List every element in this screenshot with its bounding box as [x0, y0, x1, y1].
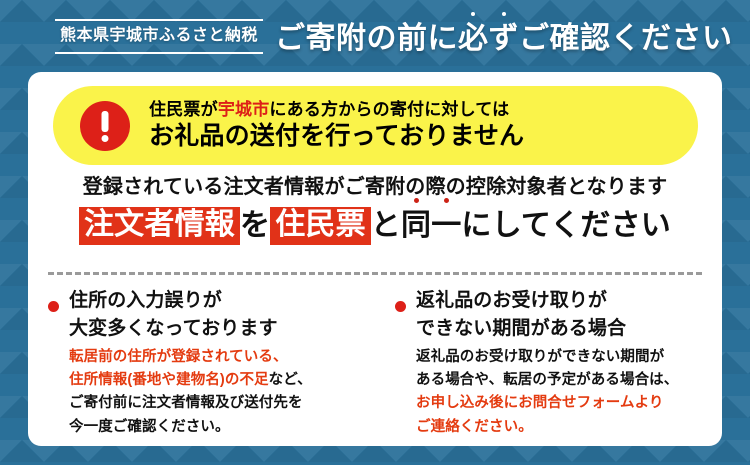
column-subtext-line4: ご連絡ください。 — [416, 416, 722, 439]
subtext-red: お申し込み後にお問合せフォームより — [416, 395, 663, 411]
column-subtext-line3: ご寄付前に注文者情報及び送付先を — [69, 392, 375, 415]
column-subtext-line4: 今一度ご確認ください。 — [69, 416, 375, 439]
notice-line1-post: にある方からの寄付に対しては — [269, 100, 509, 119]
subtext-black: など、 — [269, 372, 312, 388]
brand-label: 熊本県宇城市ふるさと納税 — [55, 21, 263, 52]
column-body: 住所の入力誤りが 大変多くなっております 転居前の住所が登録されている、 住所情… — [69, 287, 375, 439]
column-subtext-line3: お申し込み後にお問合せフォームより — [416, 392, 722, 415]
subtext-red: 転居前の住所が登録されている、 — [69, 349, 288, 365]
column-subtext: 転居前の住所が登録されている、 住所情報(番地や建物名)の不足など、 ご寄付前に… — [69, 346, 375, 439]
subtext-black: 今一度ご確認ください。 — [69, 419, 230, 435]
statement-line2: 注文者情報を住民票と同一にしてください — [28, 207, 722, 245]
column-body: 返礼品のお受け取りが できない期間がある場合 返礼品のお受け取りができない期間が… — [416, 287, 722, 439]
statement-connector: を — [240, 207, 270, 245]
column-subtext: 返礼品のお受け取りができない期間が ある場合や、転居の予定がある場合は、 お申し… — [416, 346, 722, 439]
subtext-black: ご寄付前に注文者情報及び送付先を — [69, 395, 303, 411]
statement-tail-post: にしてください — [461, 207, 671, 245]
column-subtext-line2: ある場合や、転居の予定がある場合は、 — [416, 369, 722, 392]
column-heading: 住所の入力誤りが 大変多くなっております — [69, 287, 375, 342]
statement-emphasis: 同一 — [401, 207, 461, 245]
page-title-part1: ご寄附の前に — [275, 22, 458, 55]
page-title: ご寄附の前に必ずご確認ください — [275, 24, 733, 54]
content-card: 住民票が宇城市にある方からの寄付に対しては お礼品の送付を行っておりません 登録… — [28, 72, 722, 446]
statement-highlight-box-2: 住民票 — [270, 207, 371, 245]
dashed-divider — [48, 272, 702, 275]
subtext-red: 住所情報(番地や建物名)の不足 — [69, 372, 269, 388]
page-title-emphasis-text: 必ず — [458, 22, 519, 55]
notice-line2: お礼品の送付を行っておりません — [149, 121, 524, 151]
statement-emphasis-text: 同一 — [401, 209, 461, 242]
subtext-black: 返礼品のお受け取りができない期間が — [416, 349, 664, 365]
emphasis-dots-white — [458, 12, 519, 16]
notice-texts: 住民票が宇城市にある方からの寄付に対しては お礼品の送付を行っておりません — [149, 100, 524, 151]
subtext-red: ご連絡ください。 — [416, 419, 533, 435]
column-delivery-period: 返礼品のお受け取りが できない期間がある場合 返礼品のお受け取りができない期間が… — [375, 287, 722, 439]
column-heading-line1: 住所の入力誤りが — [69, 287, 375, 315]
column-subtext-line1: 転居前の住所が登録されている、 — [69, 346, 375, 369]
bullet-icon — [395, 301, 406, 312]
columns-row: 住所の入力誤りが 大変多くなっております 転居前の住所が登録されている、 住所情… — [28, 287, 722, 439]
column-heading: 返礼品のお受け取りが できない期間がある場合 — [416, 287, 722, 342]
brand-block: 熊本県宇城市ふるさと納税 — [55, 19, 263, 54]
column-heading-line1: 返礼品のお受け取りが — [416, 287, 722, 315]
banner-header: 熊本県宇城市ふるさと納税 ご寄附の前に必ずご確認ください — [0, 0, 750, 72]
statement-tail-pre: と — [371, 207, 401, 245]
notice-banner: 住民票が宇城市にある方からの寄付に対しては お礼品の送付を行っておりません — [53, 86, 698, 165]
statement-highlight-box-1: 注文者情報 — [79, 207, 240, 245]
page-title-emphasis: 必ず — [458, 24, 519, 54]
brand-rule-bottom — [55, 52, 263, 54]
column-heading-line2: できない期間がある場合 — [416, 315, 722, 343]
statement-line1: 登録されている注文者情報がご寄附の際の控除対象者となります — [28, 175, 722, 199]
exclamation-circle-icon — [80, 101, 130, 151]
column-subtext-line1: 返礼品のお受け取りができない期間が — [416, 346, 722, 369]
subtext-black: ある場合や、転居の予定がある場合は、 — [416, 372, 678, 388]
page-title-part2: ご確認ください — [519, 22, 733, 55]
bullet-icon — [48, 301, 59, 312]
column-address-errors: 住所の入力誤りが 大変多くなっております 転居前の住所が登録されている、 住所情… — [28, 287, 375, 439]
column-subtext-line2: 住所情報(番地や建物名)の不足など、 — [69, 369, 375, 392]
column-heading-line2: 大変多くなっております — [69, 315, 375, 343]
statement-block: 登録されている注文者情報がご寄附の際の控除対象者となります 注文者情報を住民票と… — [28, 175, 722, 245]
notice-line1-pre: 住民票が — [149, 100, 218, 119]
notice-line1-highlight: 宇城市 — [218, 100, 270, 119]
notice-line1: 住民票が宇城市にある方からの寄付に対しては — [149, 100, 524, 120]
